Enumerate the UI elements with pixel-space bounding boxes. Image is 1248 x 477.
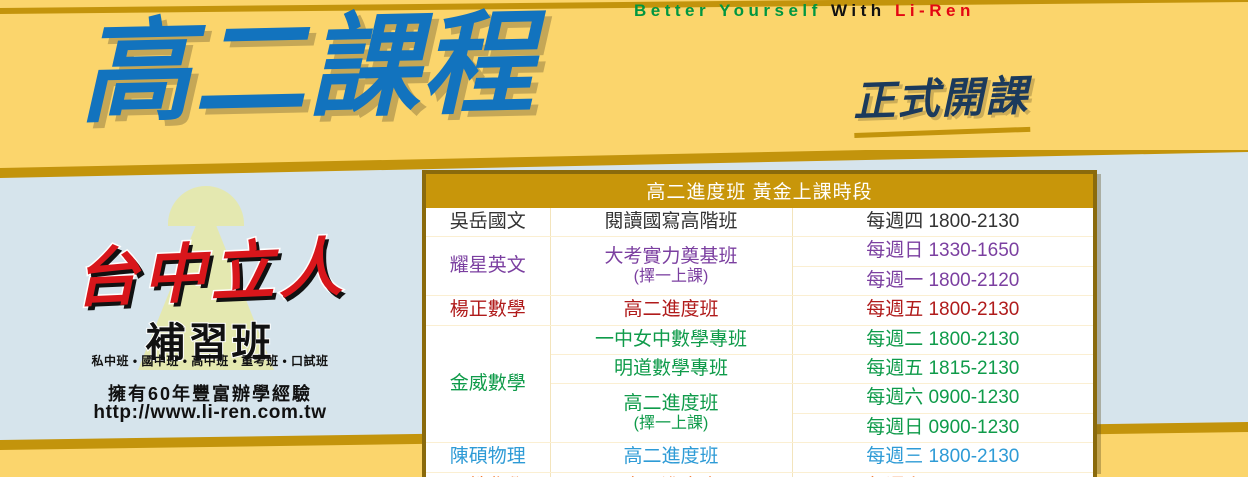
cell-course: 明道數學專班 <box>550 355 792 384</box>
tagline: Better Yourself With Li-Ren <box>634 1 975 21</box>
cell-course: 高二進度班 <box>550 472 792 477</box>
schedule-title: 高二進度班 黃金上課時段 <box>424 172 1095 208</box>
cell-course: 一中女中數學專班 <box>550 325 792 354</box>
logo-class-categories: 私中班 • 國中班 • 高中班 • 重考班 • 口試班 <box>20 352 400 369</box>
tagline-red: Li-Ren <box>895 1 975 20</box>
cell-time: 每週六 1800-2115 <box>792 472 1095 477</box>
schedule-header-row: 高二進度班 黃金上課時段 <box>424 172 1095 208</box>
cell-teacher: 陳碩物理 <box>424 443 550 472</box>
cell-time: 每週五 1815-2130 <box>792 355 1095 384</box>
cell-time: 每週三 1800-2130 <box>792 443 1095 472</box>
table-row: 楊正數學高二進度班每週五 1800-2130 <box>424 296 1095 325</box>
cell-teacher: 楊正數學 <box>424 296 550 325</box>
cell-teacher: 王皓化學 <box>424 472 550 477</box>
cell-time: 每週日 1330-1650 <box>792 237 1095 266</box>
brand-logo: 台中立人 補習班 私中班 • 國中班 • 高中班 • 重考班 • 口試班 擁有6… <box>20 200 400 430</box>
table-row: 陳碩物理高二進度班每週三 1800-2130 <box>424 443 1095 472</box>
tagline-black: With <box>831 1 886 20</box>
cell-time: 每週二 1800-2130 <box>792 325 1095 354</box>
table-row: 王皓化學高二進度班每週六 1800-2115 <box>424 472 1095 477</box>
cell-time: 每週六 0900-1230 <box>792 384 1095 413</box>
cell-course-note: (擇一上課) <box>551 268 792 287</box>
cell-time: 每週日 0900-1230 <box>792 413 1095 442</box>
table-row: 吳岳國文閱讀國寫高階班每週四 1800-2130 <box>424 208 1095 237</box>
cell-course: 大考實力奠基班(擇一上課) <box>550 237 792 296</box>
cell-course: 高二進度班 <box>550 296 792 325</box>
cell-course-note: (擇一上課) <box>551 415 792 434</box>
table-row: 耀星英文大考實力奠基班(擇一上課)每週日 1330-1650 <box>424 237 1095 266</box>
course-promo-banner: Better Yourself With Li-Ren 高二課程 正式開課 台中… <box>0 0 1248 477</box>
logo-brand-name: 台中立人 <box>18 214 402 322</box>
cell-time: 每週五 1800-2130 <box>792 296 1095 325</box>
cell-teacher: 金威數學 <box>424 325 550 443</box>
cell-course: 閱讀國寫高階班 <box>550 208 792 237</box>
cell-course: 高二進度班(擇一上課) <box>550 384 792 443</box>
table-row: 金威數學一中女中數學專班每週二 1800-2130 <box>424 325 1095 354</box>
tagline-green: Better Yourself <box>634 1 822 20</box>
cell-teacher: 耀星英文 <box>424 237 550 296</box>
logo-website-url[interactable]: http://www.li-ren.com.tw <box>20 402 400 424</box>
cell-time: 每週一 1800-2120 <box>792 266 1095 295</box>
page-title: 高二課程 <box>78 8 536 130</box>
subtitle-badge: 正式開課 <box>852 62 1030 138</box>
cell-teacher: 吳岳國文 <box>424 208 550 237</box>
cell-course: 高二進度班 <box>550 443 792 472</box>
schedule-table: 高二進度班 黃金上課時段 吳岳國文閱讀國寫高階班每週四 1800-2130耀星英… <box>422 170 1097 477</box>
cell-time: 每週四 1800-2130 <box>792 208 1095 237</box>
